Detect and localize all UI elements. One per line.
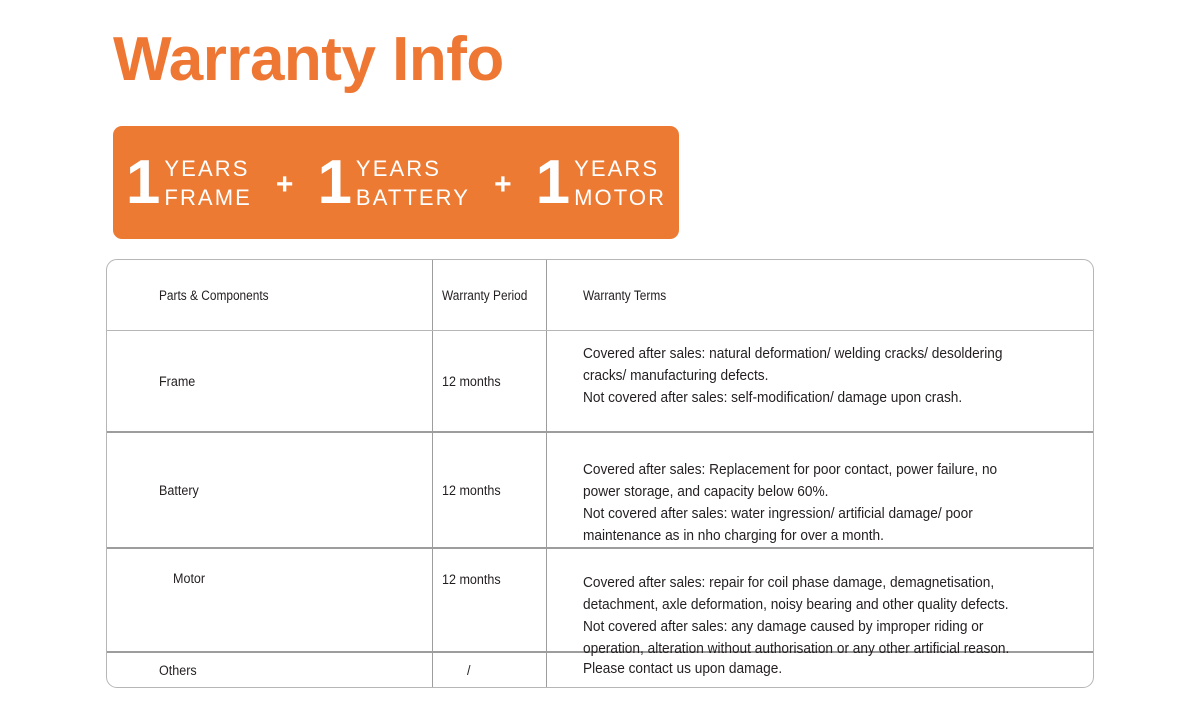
banner-label-frame: YEARS FRAME [164, 153, 252, 211]
row-terms-battery: Covered after sales: Replacement for poo… [547, 433, 1093, 547]
row-period-label-frame: 12 months [442, 374, 501, 389]
warranty-table: Parts & Components Warranty Period Warra… [106, 259, 1094, 688]
terms-line: power storage, and capacity below 60%. [583, 482, 997, 504]
row-period-motor: 12 months [433, 549, 547, 651]
row-period-label-others: / [467, 663, 471, 678]
table-header-row: Parts & Components Warranty Period Warra… [107, 260, 1093, 330]
terms-line: operation, alteration without authorisat… [583, 639, 1009, 661]
banner-unit-motor: YEARS [574, 155, 666, 183]
terms-line: detachment, axle deformation, noisy bear… [583, 595, 1009, 617]
banner-label-motor: YEARS MOTOR [574, 153, 666, 211]
banner-part-battery: BATTERY [356, 184, 470, 212]
row-part-label-others: Others [159, 663, 197, 678]
row-period-label-battery: 12 months [442, 483, 501, 498]
banner-part-frame: FRAME [164, 184, 252, 212]
banner-label-battery: YEARS BATTERY [356, 153, 470, 211]
terms-line: Not covered after sales: self-modificati… [583, 388, 1002, 410]
banner-years-number-battery: 1 [317, 154, 355, 211]
table-header-parts-label: Parts & Components [159, 288, 269, 303]
row-terms-text-motor: Covered after sales: repair for coil pha… [583, 573, 1009, 661]
terms-line: Not covered after sales: any damage caus… [583, 617, 1009, 639]
table-header-terms: Warranty Terms [547, 260, 1093, 330]
row-part-label-motor: Motor [173, 571, 205, 586]
table-header-parts: Parts & Components [107, 260, 433, 330]
table-row: Motor 12 months Covered after sales: rep… [107, 547, 1093, 651]
row-period-label-motor: 12 months [442, 572, 501, 587]
terms-line: maintenance as in nho charging for over … [583, 526, 997, 548]
banner-part-motor: MOTOR [574, 184, 666, 212]
row-part-motor: Motor [107, 549, 433, 651]
banner-unit-frame: YEARS [164, 155, 252, 183]
table-header-period: Warranty Period [433, 260, 547, 330]
row-terms-text-others: Please contact us upon damage. [583, 659, 782, 681]
banner-years-number-frame: 1 [126, 154, 164, 211]
row-terms-motor: Covered after sales: repair for coil pha… [547, 549, 1093, 651]
banner-item-frame: 1 YEARS FRAME [126, 153, 252, 211]
banner-item-battery: 1 YEARS BATTERY [317, 153, 470, 211]
banner-plus-separator-2: + [470, 170, 536, 200]
row-part-others: Others [107, 653, 433, 687]
row-period-frame: 12 months [433, 331, 547, 431]
banner-years-number-motor: 1 [536, 154, 574, 211]
row-part-battery: Battery [107, 433, 433, 547]
row-terms-text-frame: Covered after sales: natural deformation… [583, 344, 1002, 410]
banner-plus-separator-1: + [252, 170, 318, 200]
row-part-label-battery: Battery [159, 483, 199, 498]
terms-line: Covered after sales: Replacement for poo… [583, 460, 997, 482]
row-period-battery: 12 months [433, 433, 547, 547]
row-part-label-frame: Frame [159, 374, 195, 389]
row-part-frame: Frame [107, 331, 433, 431]
terms-line: Covered after sales: repair for coil pha… [583, 573, 1009, 595]
banner-item-motor: 1 YEARS MOTOR [536, 153, 666, 211]
banner-unit-battery: YEARS [356, 155, 470, 183]
terms-line: Covered after sales: natural deformation… [583, 344, 1002, 366]
page-title: Warranty Info [113, 27, 504, 92]
terms-line: Please contact us upon damage. [583, 659, 782, 681]
table-row: Battery 12 months Covered after sales: R… [107, 431, 1093, 547]
table-header-terms-label: Warranty Terms [583, 288, 666, 303]
row-terms-frame: Covered after sales: natural deformation… [547, 331, 1093, 431]
terms-line: Not covered after sales: water ingressio… [583, 504, 997, 526]
table-row: Frame 12 months Covered after sales: nat… [107, 330, 1093, 431]
row-period-others: / [433, 653, 547, 687]
row-terms-text-battery: Covered after sales: Replacement for poo… [583, 460, 997, 548]
warranty-summary-banner: 1 YEARS FRAME + 1 YEARS BATTERY + 1 YEAR… [113, 126, 679, 239]
terms-line: cracks/ manufacturing defects. [583, 366, 1002, 388]
table-header-period-label: Warranty Period [442, 288, 527, 303]
